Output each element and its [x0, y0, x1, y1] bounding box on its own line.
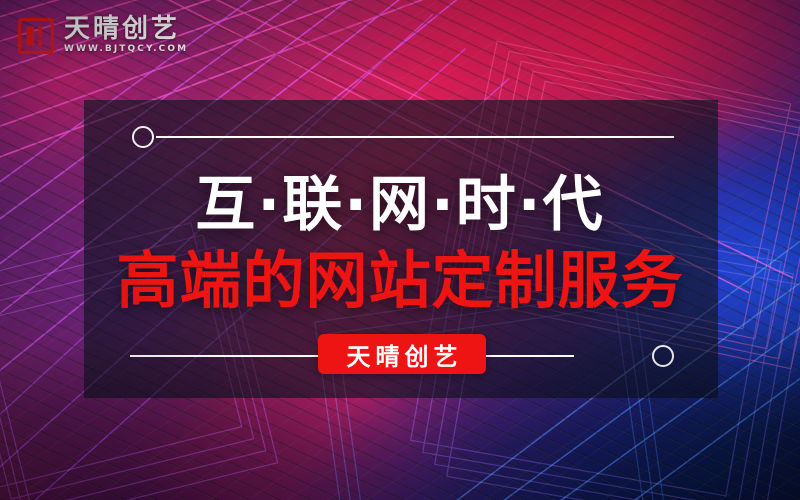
background-vignette — [0, 0, 800, 500]
promo-banner: 天晴创艺 WWW.BJTQCY.COM 互·联·网·时·代 高端的网站定制服务 … — [0, 0, 800, 500]
